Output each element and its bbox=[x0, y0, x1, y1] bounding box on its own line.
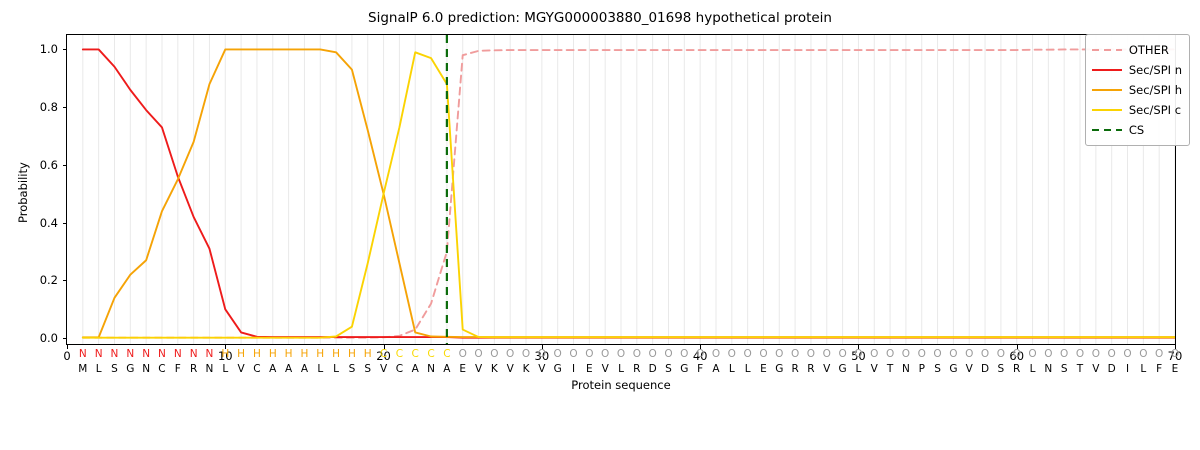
series-line-other bbox=[83, 49, 1175, 337]
legend-item: Sec/SPI h bbox=[1092, 80, 1182, 100]
residue-letter: V bbox=[1089, 363, 1103, 375]
residue-letter: K bbox=[487, 363, 501, 375]
residue-letter: G bbox=[772, 363, 786, 375]
residue-letter: L bbox=[725, 363, 739, 375]
region-letter: N bbox=[92, 348, 106, 360]
x-tick-mark bbox=[67, 345, 68, 349]
region-letter: O bbox=[772, 348, 786, 360]
region-letter: O bbox=[1026, 348, 1040, 360]
legend-item: OTHER bbox=[1092, 40, 1182, 60]
residue-letter: L bbox=[1136, 363, 1150, 375]
series-line-sec-spi-c bbox=[83, 52, 1175, 337]
region-letter: C bbox=[392, 348, 406, 360]
residue-letter: S bbox=[994, 363, 1008, 375]
residue-letter: V bbox=[820, 363, 834, 375]
legend-item: CS bbox=[1092, 120, 1182, 140]
residue-letter: N bbox=[139, 363, 153, 375]
y-tick-label: 0.2 bbox=[20, 273, 58, 287]
region-letter: O bbox=[867, 348, 881, 360]
residue-letter: N bbox=[202, 363, 216, 375]
region-letter: O bbox=[1041, 348, 1055, 360]
residue-letter: G bbox=[551, 363, 565, 375]
region-letter: O bbox=[851, 348, 865, 360]
region-letter: O bbox=[725, 348, 739, 360]
y-tick-label: 0.8 bbox=[20, 100, 58, 114]
plot-curves bbox=[67, 35, 1175, 344]
legend-item-label: CS bbox=[1129, 123, 1144, 137]
region-letter: O bbox=[804, 348, 818, 360]
region-letter: O bbox=[1105, 348, 1119, 360]
region-letter: O bbox=[535, 348, 549, 360]
region-letter: C bbox=[440, 348, 454, 360]
residue-letter: N bbox=[899, 363, 913, 375]
region-letter: O bbox=[899, 348, 913, 360]
region-letter: O bbox=[582, 348, 596, 360]
residue-letter: V bbox=[598, 363, 612, 375]
residue-letter: K bbox=[519, 363, 533, 375]
legend-color-swatch bbox=[1092, 44, 1122, 56]
legend-item-label: Sec/SPI n bbox=[1129, 63, 1182, 77]
legend-item-label: OTHER bbox=[1129, 43, 1169, 57]
series-line-sec-spi-n bbox=[83, 49, 1175, 337]
region-letter: O bbox=[994, 348, 1008, 360]
legend-color-swatch bbox=[1092, 124, 1122, 136]
region-letter: O bbox=[962, 348, 976, 360]
residue-letter: R bbox=[804, 363, 818, 375]
signalp-prediction-figure: SignalP 6.0 prediction: MGYG000003880_01… bbox=[0, 0, 1200, 450]
region-letter: O bbox=[598, 348, 612, 360]
residue-letter: L bbox=[741, 363, 755, 375]
residue-letter: C bbox=[392, 363, 406, 375]
legend-item-label: Sec/SPI c bbox=[1129, 103, 1181, 117]
residue-letter: A bbox=[408, 363, 422, 375]
region-letter: O bbox=[1010, 348, 1024, 360]
region-letter: O bbox=[883, 348, 897, 360]
series-line-sec-spi-h bbox=[83, 49, 1175, 337]
residue-letter: S bbox=[345, 363, 359, 375]
residue-letter: V bbox=[234, 363, 248, 375]
residue-letter: C bbox=[155, 363, 169, 375]
residue-letter: E bbox=[456, 363, 470, 375]
region-letter: O bbox=[1121, 348, 1135, 360]
region-letter: O bbox=[503, 348, 517, 360]
residue-letter: A bbox=[709, 363, 723, 375]
region-letter: N bbox=[76, 348, 90, 360]
region-letter: O bbox=[931, 348, 945, 360]
residue-letter: P bbox=[915, 363, 929, 375]
residue-letter: A bbox=[266, 363, 280, 375]
residue-letter: L bbox=[614, 363, 628, 375]
y-tick-label: 0.6 bbox=[20, 158, 58, 172]
region-letter: O bbox=[709, 348, 723, 360]
region-letter: O bbox=[661, 348, 675, 360]
residue-letter: L bbox=[329, 363, 343, 375]
residue-letter: D bbox=[1105, 363, 1119, 375]
residue-letter: G bbox=[836, 363, 850, 375]
residue-letter: L bbox=[218, 363, 232, 375]
region-letter: O bbox=[1073, 348, 1087, 360]
residue-letter: L bbox=[1026, 363, 1040, 375]
residue-letter: E bbox=[1168, 363, 1182, 375]
residue-letter: L bbox=[313, 363, 327, 375]
residue-letter: V bbox=[472, 363, 486, 375]
legend-color-swatch bbox=[1092, 84, 1122, 96]
region-letter: C bbox=[424, 348, 438, 360]
residue-letter: S bbox=[1057, 363, 1071, 375]
residue-letter: A bbox=[440, 363, 454, 375]
region-letter: N bbox=[202, 348, 216, 360]
region-letter: O bbox=[1152, 348, 1166, 360]
region-letter: O bbox=[1136, 348, 1150, 360]
region-letter: O bbox=[836, 348, 850, 360]
region-letter: O bbox=[646, 348, 660, 360]
residue-letter: L bbox=[851, 363, 865, 375]
residue-letter: S bbox=[107, 363, 121, 375]
legend-item: Sec/SPI n bbox=[1092, 60, 1182, 80]
legend-color-swatch bbox=[1092, 104, 1122, 116]
region-letter: H bbox=[313, 348, 327, 360]
x-axis-label: Protein sequence bbox=[66, 378, 1176, 392]
region-letter: O bbox=[567, 348, 581, 360]
residue-letter: V bbox=[962, 363, 976, 375]
residue-letter: V bbox=[503, 363, 517, 375]
region-letter: N bbox=[171, 348, 185, 360]
residue-letter: R bbox=[187, 363, 201, 375]
plot-area bbox=[66, 34, 1176, 345]
region-letter: O bbox=[1168, 348, 1182, 360]
region-letter: O bbox=[915, 348, 929, 360]
region-letter: O bbox=[551, 348, 565, 360]
y-tick-label: 1.0 bbox=[20, 42, 58, 56]
region-letter: O bbox=[487, 348, 501, 360]
residue-letter: A bbox=[282, 363, 296, 375]
region-letter: O bbox=[820, 348, 834, 360]
residue-letter: G bbox=[677, 363, 691, 375]
residue-letter: M bbox=[76, 363, 90, 375]
region-letter: O bbox=[472, 348, 486, 360]
region-letter: O bbox=[756, 348, 770, 360]
legend-item: Sec/SPI c bbox=[1092, 100, 1182, 120]
region-letter: H bbox=[297, 348, 311, 360]
region-letter: H bbox=[329, 348, 343, 360]
region-letter: H bbox=[345, 348, 359, 360]
residue-letter: C bbox=[250, 363, 264, 375]
region-letter: H bbox=[361, 348, 375, 360]
residue-letter: R bbox=[1010, 363, 1024, 375]
region-letter: N bbox=[107, 348, 121, 360]
legend: OTHERSec/SPI nSec/SPI hSec/SPI cCS bbox=[1085, 34, 1190, 146]
residue-letter: G bbox=[123, 363, 137, 375]
region-letter: H bbox=[250, 348, 264, 360]
region-letter: O bbox=[677, 348, 691, 360]
region-letter: O bbox=[788, 348, 802, 360]
residue-letter: S bbox=[661, 363, 675, 375]
residue-letter: L bbox=[92, 363, 106, 375]
residue-letter: I bbox=[567, 363, 581, 375]
region-letter: O bbox=[978, 348, 992, 360]
legend-color-swatch bbox=[1092, 64, 1122, 76]
region-letter: O bbox=[1089, 348, 1103, 360]
residue-letter: S bbox=[361, 363, 375, 375]
y-tick-label: 0.4 bbox=[20, 216, 58, 230]
residue-letter: T bbox=[1073, 363, 1087, 375]
residue-letter: E bbox=[756, 363, 770, 375]
region-letter: N bbox=[155, 348, 169, 360]
residue-letter: F bbox=[693, 363, 707, 375]
residue-letter: A bbox=[297, 363, 311, 375]
region-letter: N bbox=[123, 348, 137, 360]
residue-letter: G bbox=[946, 363, 960, 375]
region-letter: N bbox=[139, 348, 153, 360]
region-letter: O bbox=[630, 348, 644, 360]
region-letter: C bbox=[377, 348, 391, 360]
residue-letter: D bbox=[978, 363, 992, 375]
region-letter: H bbox=[218, 348, 232, 360]
region-letter: C bbox=[408, 348, 422, 360]
residue-letter: R bbox=[788, 363, 802, 375]
residue-letter: N bbox=[424, 363, 438, 375]
residue-letter: R bbox=[630, 363, 644, 375]
residue-letter: E bbox=[582, 363, 596, 375]
residue-letter: N bbox=[1041, 363, 1055, 375]
residue-letter: V bbox=[867, 363, 881, 375]
region-letter: O bbox=[741, 348, 755, 360]
chart-title: SignalP 6.0 prediction: MGYG000003880_01… bbox=[0, 10, 1200, 26]
residue-letter: I bbox=[1121, 363, 1135, 375]
region-letter: O bbox=[614, 348, 628, 360]
region-letter: H bbox=[234, 348, 248, 360]
region-letter: O bbox=[1057, 348, 1071, 360]
residue-letter: V bbox=[377, 363, 391, 375]
region-letter: H bbox=[282, 348, 296, 360]
residue-letter: V bbox=[535, 363, 549, 375]
region-letter: O bbox=[693, 348, 707, 360]
residue-letter: S bbox=[931, 363, 945, 375]
region-letter: O bbox=[946, 348, 960, 360]
region-letter: H bbox=[266, 348, 280, 360]
legend-item-label: Sec/SPI h bbox=[1129, 83, 1182, 97]
residue-letter: D bbox=[646, 363, 660, 375]
region-letter: N bbox=[187, 348, 201, 360]
residue-letter: F bbox=[1152, 363, 1166, 375]
residue-letter: T bbox=[883, 363, 897, 375]
region-letter: O bbox=[519, 348, 533, 360]
y-tick-label: 0.0 bbox=[20, 331, 58, 345]
region-letter: O bbox=[456, 348, 470, 360]
residue-letter: F bbox=[171, 363, 185, 375]
